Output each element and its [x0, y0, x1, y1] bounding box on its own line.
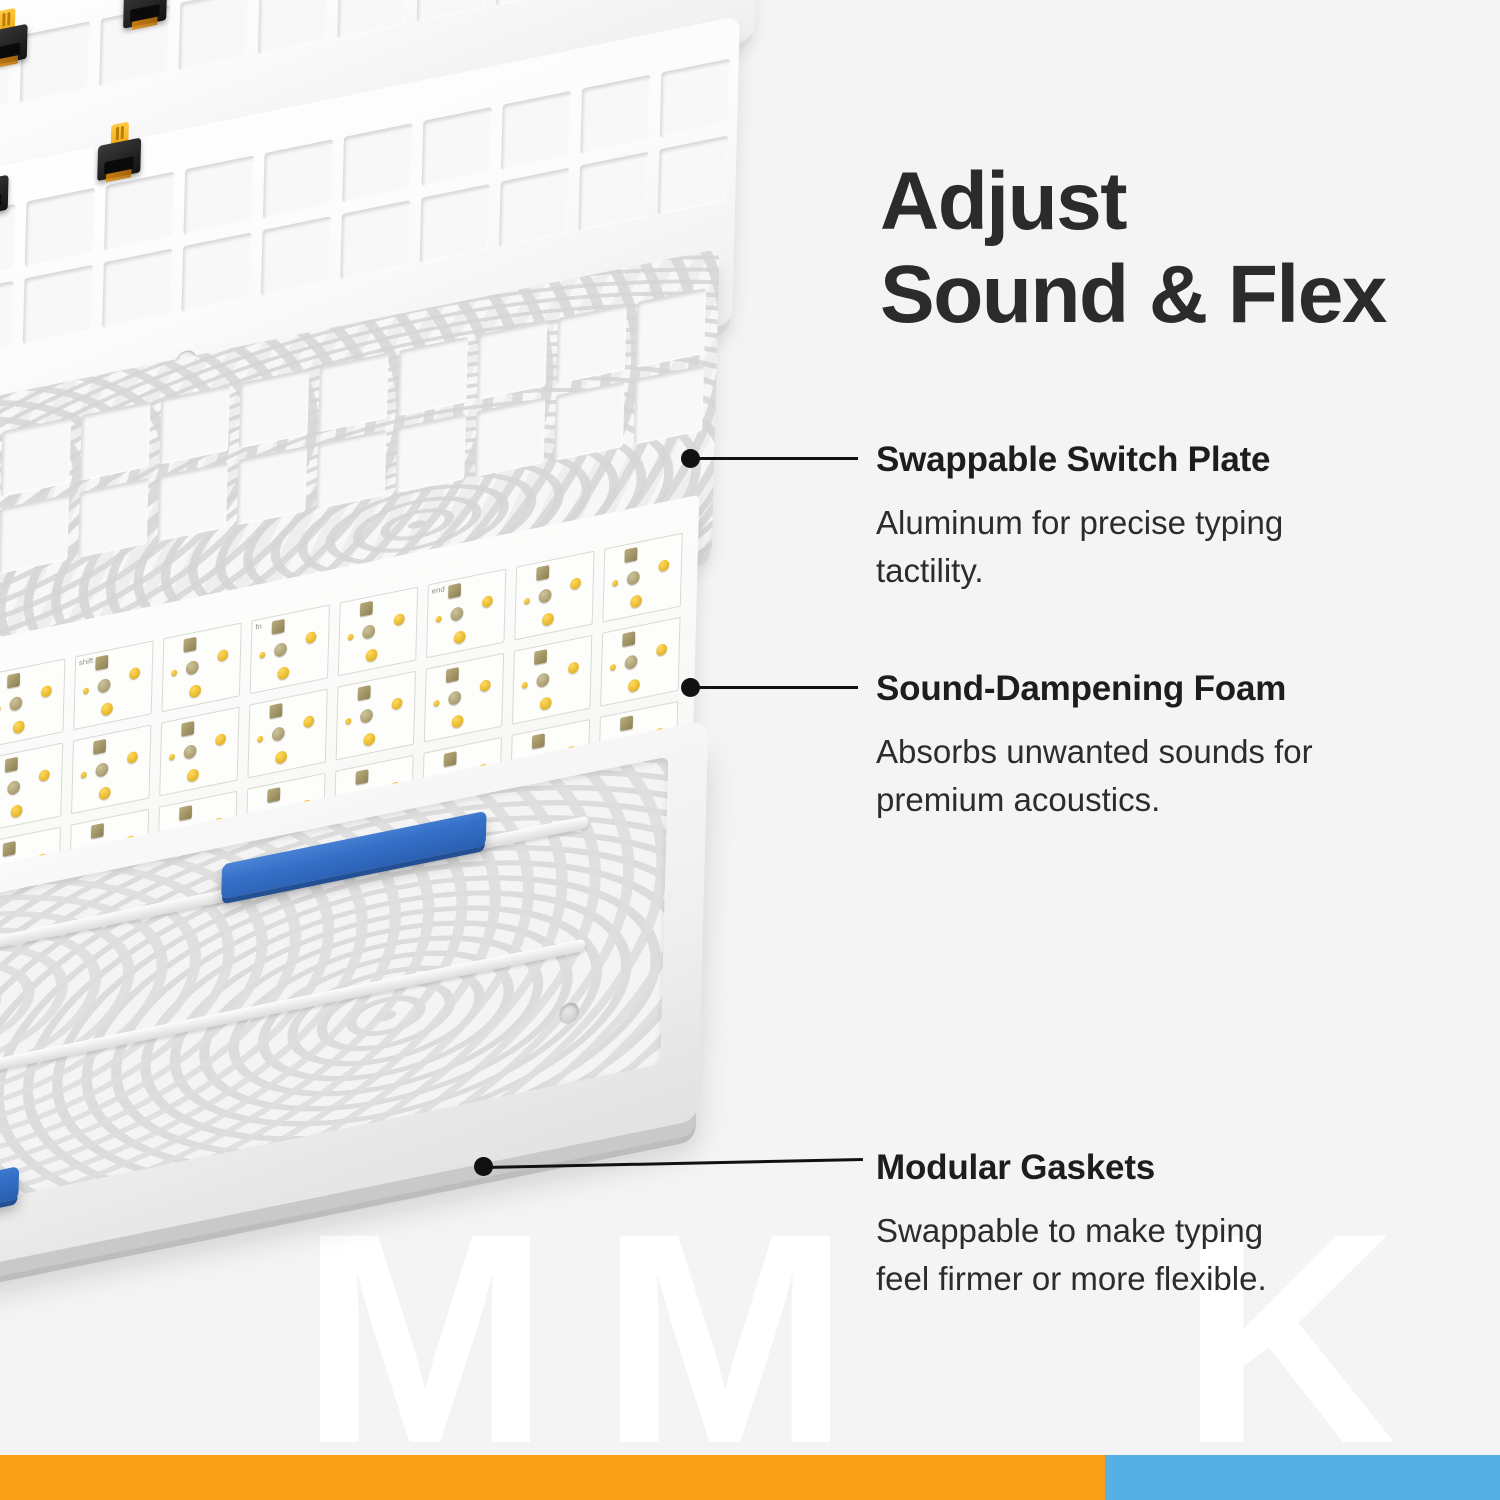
pad-square: [272, 619, 285, 635]
key-cutout: [501, 91, 571, 171]
callout-line-foam: [690, 686, 858, 689]
pad-contact: [539, 696, 551, 711]
pad-via: [610, 663, 616, 670]
bottom-accent-bar: [0, 1455, 1500, 1500]
callout-body: Aluminum for precise typing tactility.: [876, 499, 1396, 597]
pad-hole: [274, 641, 287, 657]
pad-square: [446, 667, 459, 683]
key-cutout: [422, 107, 492, 187]
key-cutout: [183, 155, 253, 235]
callout-body: Absorbs unwanted sounds for premium acou…: [876, 728, 1316, 826]
pad-hole: [98, 677, 111, 693]
pad-contact: [98, 786, 110, 801]
pad-contact: [126, 751, 137, 764]
key-cutout: [660, 58, 730, 138]
key-cutout: [580, 75, 650, 155]
headline-line-1: Adjust: [880, 155, 1386, 248]
pad-contact: [453, 630, 465, 645]
infographic-canvas: M M K: [0, 0, 1500, 1500]
pad-contact: [129, 667, 140, 680]
switch-pad: [602, 533, 682, 623]
switch-pad: [512, 635, 592, 725]
key-cutout: [239, 369, 309, 449]
switch-pad: end: [426, 569, 506, 659]
pad-contact: [305, 631, 316, 644]
bottom-bar-blue: [1105, 1455, 1500, 1500]
mechanical-switch: [97, 119, 142, 181]
pad-square: [444, 751, 457, 767]
pad-square: [536, 565, 549, 581]
callout-title: Modular Gaskets: [876, 1145, 1316, 1191]
pad-square: [360, 601, 373, 617]
switch-pad: [0, 658, 65, 748]
callout-sound-dampening-foam: Sound-Dampening Foam Absorbs unwanted so…: [876, 666, 1316, 825]
switch-pad: shift: [73, 640, 153, 730]
key-cutout: [80, 401, 150, 481]
pad-square: [3, 841, 16, 857]
pad-hole: [537, 672, 550, 688]
pad-contact: [481, 595, 492, 608]
pad-square: [93, 739, 106, 755]
pad-contact: [630, 594, 642, 609]
pad-hole: [186, 659, 199, 675]
pad-hole: [96, 761, 109, 777]
pad-square: [5, 757, 18, 773]
pad-square: [448, 583, 461, 599]
pad-contact: [275, 750, 287, 765]
pad-square: [7, 673, 20, 689]
key-cutout: [25, 188, 95, 268]
switch-pad: fn: [250, 604, 330, 694]
pad-via: [0, 705, 1, 712]
key-cutout: [398, 337, 468, 417]
pad-hole: [10, 695, 23, 711]
pad-via: [347, 633, 353, 640]
pad-square: [91, 823, 104, 839]
pad-contact: [363, 732, 375, 747]
key-cutout: [104, 172, 174, 252]
pad-hole: [451, 605, 464, 621]
key-cutout: [20, 21, 90, 103]
pad-square: [625, 547, 638, 563]
pad-contact: [10, 804, 22, 819]
pad-contact: [570, 577, 581, 590]
pad-square: [268, 787, 281, 803]
pad-square: [96, 655, 109, 671]
pad-contact: [365, 648, 377, 663]
callout-modular-gaskets: Modular Gaskets Swappable to make typing…: [876, 1145, 1316, 1304]
pad-hole: [8, 779, 21, 795]
key-cutout: [1, 417, 71, 497]
pad-contact: [393, 613, 404, 626]
pad-contact: [656, 644, 667, 657]
pad-contact: [189, 684, 201, 699]
switch-pad: [0, 742, 63, 832]
pad-via: [81, 771, 87, 778]
pad-contact: [186, 768, 198, 783]
pad-hole: [627, 570, 640, 586]
pad-contact: [303, 715, 314, 728]
switch-pad: [336, 671, 416, 761]
pad-label: shift: [79, 656, 94, 667]
switch-pad: [71, 725, 151, 815]
key-cutout: [477, 320, 547, 400]
callout-title: Sound-Dampening Foam: [876, 666, 1316, 712]
key-cutout: [263, 139, 333, 219]
pad-hole: [272, 725, 285, 741]
pad-contact: [658, 559, 669, 572]
pad-square: [270, 703, 283, 719]
switch-pad: [247, 689, 327, 779]
pad-contact: [100, 702, 112, 717]
pad-hole: [363, 623, 376, 639]
pad-via: [433, 699, 439, 706]
pad-square: [622, 631, 635, 647]
bottom-bar-orange: [0, 1455, 1105, 1500]
pad-contact: [627, 678, 639, 693]
pad-contact: [12, 720, 24, 735]
key-cutout: [159, 385, 229, 465]
pad-contact: [38, 769, 49, 782]
pad-via: [171, 669, 177, 676]
pad-via: [436, 615, 442, 622]
pad-via: [259, 651, 265, 658]
pad-contact: [541, 612, 553, 627]
pad-label: end: [432, 585, 445, 596]
switch-pad: [514, 551, 594, 641]
mechanical-switch: [0, 5, 28, 67]
pad-square: [358, 685, 371, 701]
pad-contact: [217, 649, 228, 662]
pad-square: [182, 721, 195, 737]
pad-hole: [360, 707, 373, 723]
pad-via: [345, 717, 351, 724]
pad-via: [524, 597, 530, 604]
pad-contact: [277, 666, 289, 681]
pad-via: [169, 753, 175, 760]
pad-via: [612, 579, 618, 586]
callout-body: Swappable to make typing feel firmer or …: [876, 1207, 1316, 1305]
pad-label: fn: [255, 622, 262, 632]
callout-swappable-switch-plate: Swappable Switch Plate Aluminum for prec…: [876, 437, 1396, 596]
pad-hole: [539, 587, 552, 603]
key-cutout: [342, 123, 412, 203]
callout-line-switch-plate: [690, 457, 858, 460]
pad-hole: [449, 690, 462, 706]
pad-contact: [479, 679, 490, 692]
switch-pad: [159, 707, 239, 797]
key-cutout: [636, 288, 706, 368]
key-cutout: [556, 304, 626, 384]
pad-via: [522, 681, 528, 688]
pad-hole: [625, 654, 638, 670]
key-cutout: [0, 204, 16, 284]
pad-square: [620, 715, 633, 731]
exploded-keyboard-photo: alt ctrl shift fn end: [0, 0, 880, 1480]
pad-square: [179, 805, 192, 821]
pad-via: [257, 735, 263, 742]
pad-contact: [391, 697, 402, 710]
switch-pad: [161, 622, 241, 712]
pad-square: [532, 733, 545, 749]
pad-square: [184, 637, 197, 653]
pad-contact: [567, 661, 578, 674]
key-cutout: [318, 353, 388, 433]
pad-hole: [184, 743, 197, 759]
pad-square: [356, 769, 369, 785]
pad-contact: [451, 714, 463, 729]
pad-contact: [215, 733, 226, 746]
switch-pad: [338, 587, 418, 677]
pad-via: [83, 687, 89, 694]
switch-pad: [600, 617, 680, 707]
headline-line-2: Sound & Flex: [880, 248, 1386, 341]
pad-contact: [40, 685, 51, 698]
callout-title: Swappable Switch Plate: [876, 437, 1396, 483]
switch-pad: [424, 653, 504, 743]
page-title: Adjust Sound & Flex: [880, 155, 1386, 342]
pad-square: [534, 649, 547, 665]
